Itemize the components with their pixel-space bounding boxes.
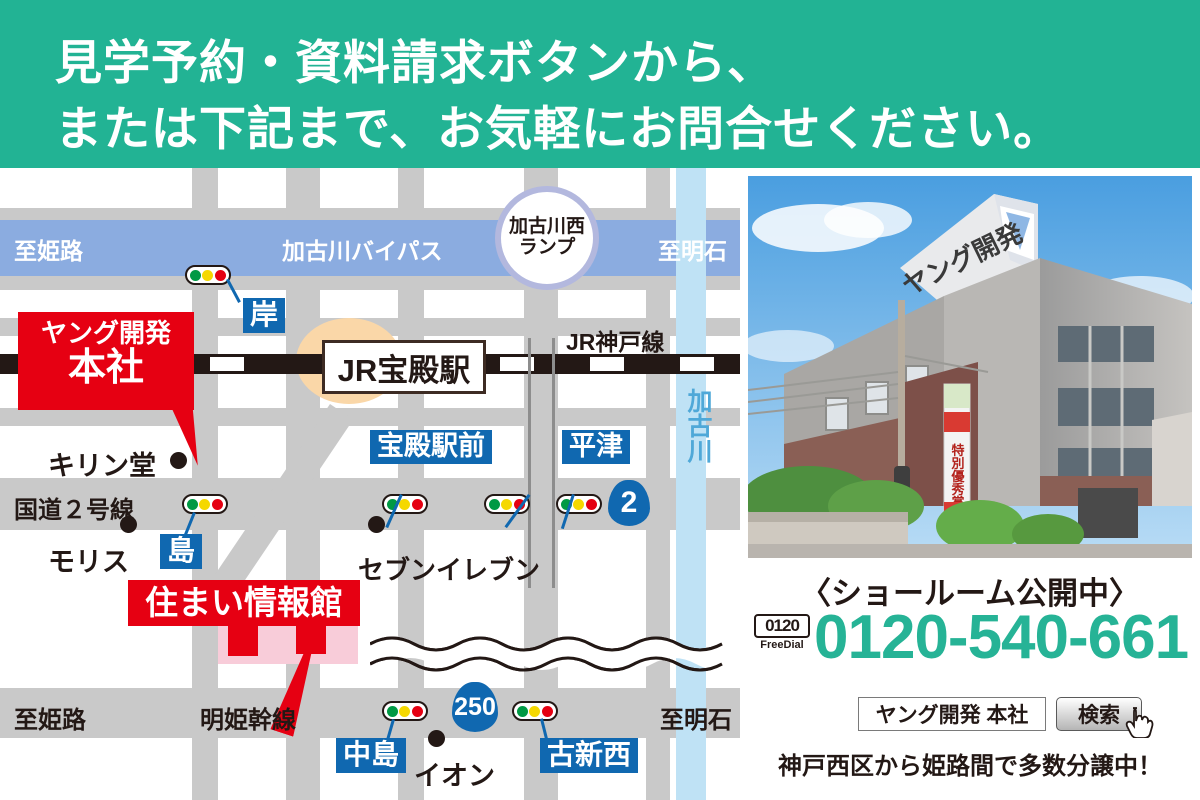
signal-yellow bbox=[399, 706, 410, 717]
route-shield-2: 2 bbox=[608, 480, 650, 526]
station-houden: JR宝殿駅 bbox=[322, 340, 486, 394]
railway-tie bbox=[590, 357, 624, 371]
signal-yellow bbox=[199, 499, 210, 510]
intersection-nakajima: 中島 bbox=[336, 738, 406, 773]
freedial-logo: 0120 FreeDial bbox=[754, 614, 810, 651]
site-marker-head-office bbox=[228, 626, 258, 656]
freedial-number: 0120 bbox=[754, 614, 810, 638]
access-map: 至姫路 加古川バイパス 至明石 加古川西 ランプ JR宝殿駅 JR神戸線 加古川… bbox=[0, 168, 740, 800]
intersection-kishi: 岸 bbox=[243, 298, 285, 333]
road-meiki bbox=[0, 688, 740, 738]
signal-green bbox=[187, 499, 198, 510]
tagline: 神戸西区から姫路間で多数分譲中！ bbox=[740, 746, 1200, 781]
signal-green bbox=[517, 706, 528, 717]
label-to-akashi-bypass: 至明石 bbox=[658, 232, 727, 266]
intersection-hiratsu: 平津 bbox=[562, 430, 630, 464]
contact-panel: ヤング開発 bbox=[740, 168, 1200, 800]
signal-red bbox=[586, 499, 597, 510]
traffic-signal-kishi bbox=[185, 265, 231, 285]
intersection-koshinnishi: 古新西 bbox=[540, 738, 638, 773]
callout-head-office: ヤング開発 本社 bbox=[18, 312, 194, 410]
phone-row: 0120 FreeDial 0120-540-661 bbox=[754, 610, 1194, 666]
cursor-hand-icon bbox=[1123, 704, 1157, 738]
signal-red bbox=[412, 499, 423, 510]
landmark-kirindo-dot bbox=[170, 452, 187, 469]
signal-yellow bbox=[529, 706, 540, 717]
route-shield-250: 250 bbox=[452, 682, 498, 732]
landmark-morisu-label: モリス bbox=[48, 540, 129, 579]
landmark-aeon-label: イオン bbox=[414, 754, 495, 793]
callout-info-center: 住まい情報館 bbox=[128, 580, 360, 626]
label-route2: 国道２号線 bbox=[14, 490, 134, 525]
ramp-line-1: 加古川西 bbox=[509, 217, 585, 238]
landmark-seveneleven-dot bbox=[368, 516, 385, 533]
label-to-akashi-meiki: 至明石 bbox=[660, 700, 732, 735]
signal-yellow bbox=[202, 270, 213, 281]
railway-tie bbox=[680, 357, 714, 371]
search-input[interactable]: ヤング開発 本社 bbox=[858, 697, 1046, 731]
map-break-wavy bbox=[370, 628, 740, 688]
callout-head-office-line1: ヤング開発 bbox=[18, 320, 194, 347]
header-line-1: 見学予約・資料請求ボタンから、 bbox=[55, 24, 775, 93]
callout-head-office-line2: 本社 bbox=[18, 349, 194, 389]
signal-green bbox=[489, 499, 500, 510]
header-banner: 見学予約・資料請求ボタンから、 または下記まで、お気軽にお問合せください。 bbox=[0, 0, 1200, 168]
signal-yellow bbox=[573, 499, 584, 510]
kakogawa-nishi-ramp: 加古川西 ランプ bbox=[495, 186, 599, 290]
search-button-label: 検索 bbox=[1078, 699, 1120, 729]
road-minor-2 bbox=[0, 408, 740, 426]
label-to-himeji-bypass: 至姫路 bbox=[14, 232, 83, 266]
signal-red bbox=[412, 706, 423, 717]
label-to-himeji-meiki: 至姫路 bbox=[14, 700, 86, 735]
search-row: ヤング開発 本社 検索 bbox=[858, 696, 1142, 732]
ramp-line-2: ランプ bbox=[519, 238, 575, 259]
freedial-caption: FreeDial bbox=[754, 639, 810, 651]
intersection-shima: 島 bbox=[160, 534, 202, 569]
landmark-seveneleven-label: セブンイレブン bbox=[358, 550, 540, 587]
traffic-signal-hiratsu bbox=[556, 494, 602, 514]
railway-tie bbox=[210, 357, 244, 371]
intersection-houdenekimae: 宝殿駅前 bbox=[370, 430, 492, 464]
label-meiki-kansen: 明姫幹線 bbox=[200, 700, 296, 735]
signal-green bbox=[190, 270, 201, 281]
traffic-signal-shima bbox=[182, 494, 228, 514]
search-button[interactable]: 検索 bbox=[1056, 697, 1142, 731]
label-river-kakogawa: 加古川 bbox=[680, 388, 716, 463]
spur-line-right bbox=[552, 338, 555, 588]
landmark-aeon-dot bbox=[428, 730, 445, 747]
label-jr-kobe-line: JR神戸線 bbox=[566, 323, 664, 357]
signal-green bbox=[387, 706, 398, 717]
header-line-2: または下記まで、お気軽にお問合せください。 bbox=[55, 90, 1061, 159]
signal-red bbox=[215, 270, 226, 281]
signal-red bbox=[542, 706, 553, 717]
office-building-photo: ヤング開発 bbox=[748, 176, 1192, 558]
landmark-kirindo-label: キリン堂 bbox=[48, 444, 156, 483]
phone-number[interactable]: 0120-540-661 bbox=[814, 602, 1188, 673]
traffic-signal-koshinnishi bbox=[512, 701, 558, 721]
photo-illustration: ヤング開発 bbox=[748, 176, 1192, 558]
svg-text:特別優秀賞: 特別優秀賞 bbox=[950, 443, 966, 510]
label-kakogawa-bypass: 加古川バイパス bbox=[282, 232, 443, 266]
signal-yellow bbox=[501, 499, 512, 510]
traffic-signal-nakajima bbox=[382, 701, 428, 721]
landmark-morisu-dot bbox=[120, 516, 137, 533]
access-map-banner: 見学予約・資料請求ボタンから、 または下記まで、お気軽にお問合せください。 bbox=[0, 0, 1200, 800]
traffic-signal-houdenekimae bbox=[382, 494, 428, 514]
signal-red bbox=[212, 499, 223, 510]
signal-yellow bbox=[399, 499, 410, 510]
